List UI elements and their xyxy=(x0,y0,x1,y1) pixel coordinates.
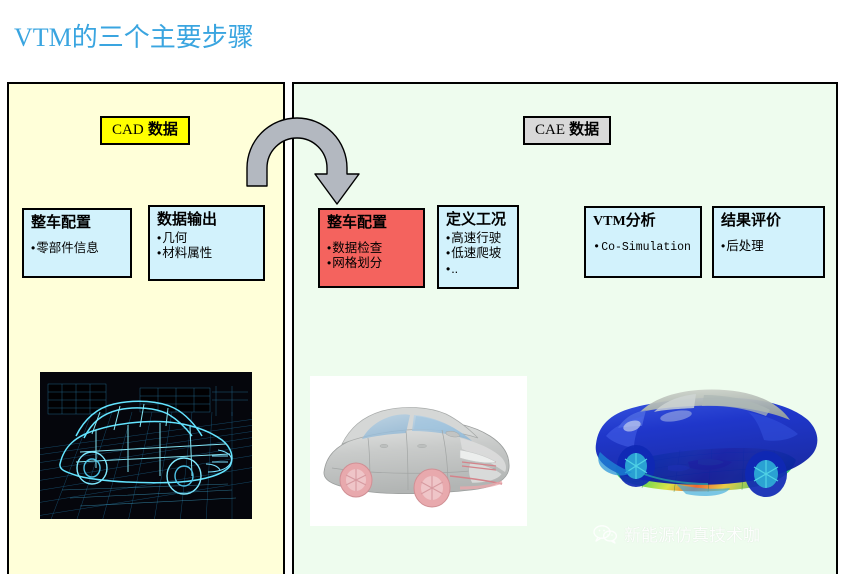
step-box-vehicle-config-cae: 整车配置 数据检查 网格划分 xyxy=(318,208,425,288)
list-item: 数据检查 xyxy=(327,241,417,256)
image-cad-wireframe-car xyxy=(40,372,252,519)
list-item: 零部件信息 xyxy=(31,241,124,256)
chip-cae-han: 数据 xyxy=(569,121,599,138)
list-item: 几何 xyxy=(157,231,257,246)
chip-cad-latin: CAD xyxy=(112,122,144,138)
step-title: 整车配置 xyxy=(327,214,417,232)
step-title-han: 分析 xyxy=(626,212,656,229)
chip-cae-latin: CAE xyxy=(535,122,565,138)
step-item-list: 高速行驶 低速爬坡 .. xyxy=(446,231,511,277)
step-title: VTM分析 xyxy=(593,212,694,231)
step-title: 结果评价 xyxy=(721,212,817,230)
list-item: 后处理 xyxy=(721,239,817,254)
step-item-list: 几何 材料属性 xyxy=(157,231,257,262)
wechat-bubbles-icon xyxy=(592,524,618,544)
image-cae-mesh-car xyxy=(310,376,527,526)
list-item: .. xyxy=(446,262,511,277)
step-title: 整车配置 xyxy=(31,214,124,232)
step-box-vehicle-config-cad: 整车配置 零部件信息 xyxy=(22,208,132,278)
step-title-latin: VTM xyxy=(593,214,626,229)
watermark: 新能源仿真技术咖 xyxy=(592,521,760,546)
image-fea-result-car xyxy=(580,382,828,522)
step-item-list: 后处理 xyxy=(721,239,817,254)
list-item: 网格划分 xyxy=(327,256,417,271)
watermark-text: 新能源仿真技术咖 xyxy=(624,521,760,546)
step-box-data-output: 数据输出 几何 材料属性 xyxy=(148,205,265,281)
step-box-define-conditions: 定义工况 高速行驶 低速爬坡 .. xyxy=(437,205,519,289)
list-item: 高速行驶 xyxy=(446,231,511,246)
list-item: 材料属性 xyxy=(157,246,257,261)
step-item-list: 零部件信息 xyxy=(31,241,124,256)
chip-cad-han: 数据 xyxy=(148,121,178,138)
step-box-vtm-analysis: VTM分析 Co-Simulation xyxy=(584,206,702,278)
step-title: 定义工况 xyxy=(446,211,511,229)
page-title: VTM的三个主要步骤 xyxy=(14,17,254,54)
chip-cae-data: CAE 数据 xyxy=(523,116,611,145)
step-item-list: 数据检查 网格划分 xyxy=(327,241,417,272)
step-box-result-evaluation: 结果评价 后处理 xyxy=(712,206,825,278)
chip-cad-data: CAD 数据 xyxy=(100,116,190,145)
list-item: Co-Simulation xyxy=(593,240,694,255)
list-item: 低速爬坡 xyxy=(446,246,511,261)
step-item-list: Co-Simulation xyxy=(593,240,694,255)
curved-transfer-arrow xyxy=(245,112,361,210)
step-title: 数据输出 xyxy=(157,211,257,229)
